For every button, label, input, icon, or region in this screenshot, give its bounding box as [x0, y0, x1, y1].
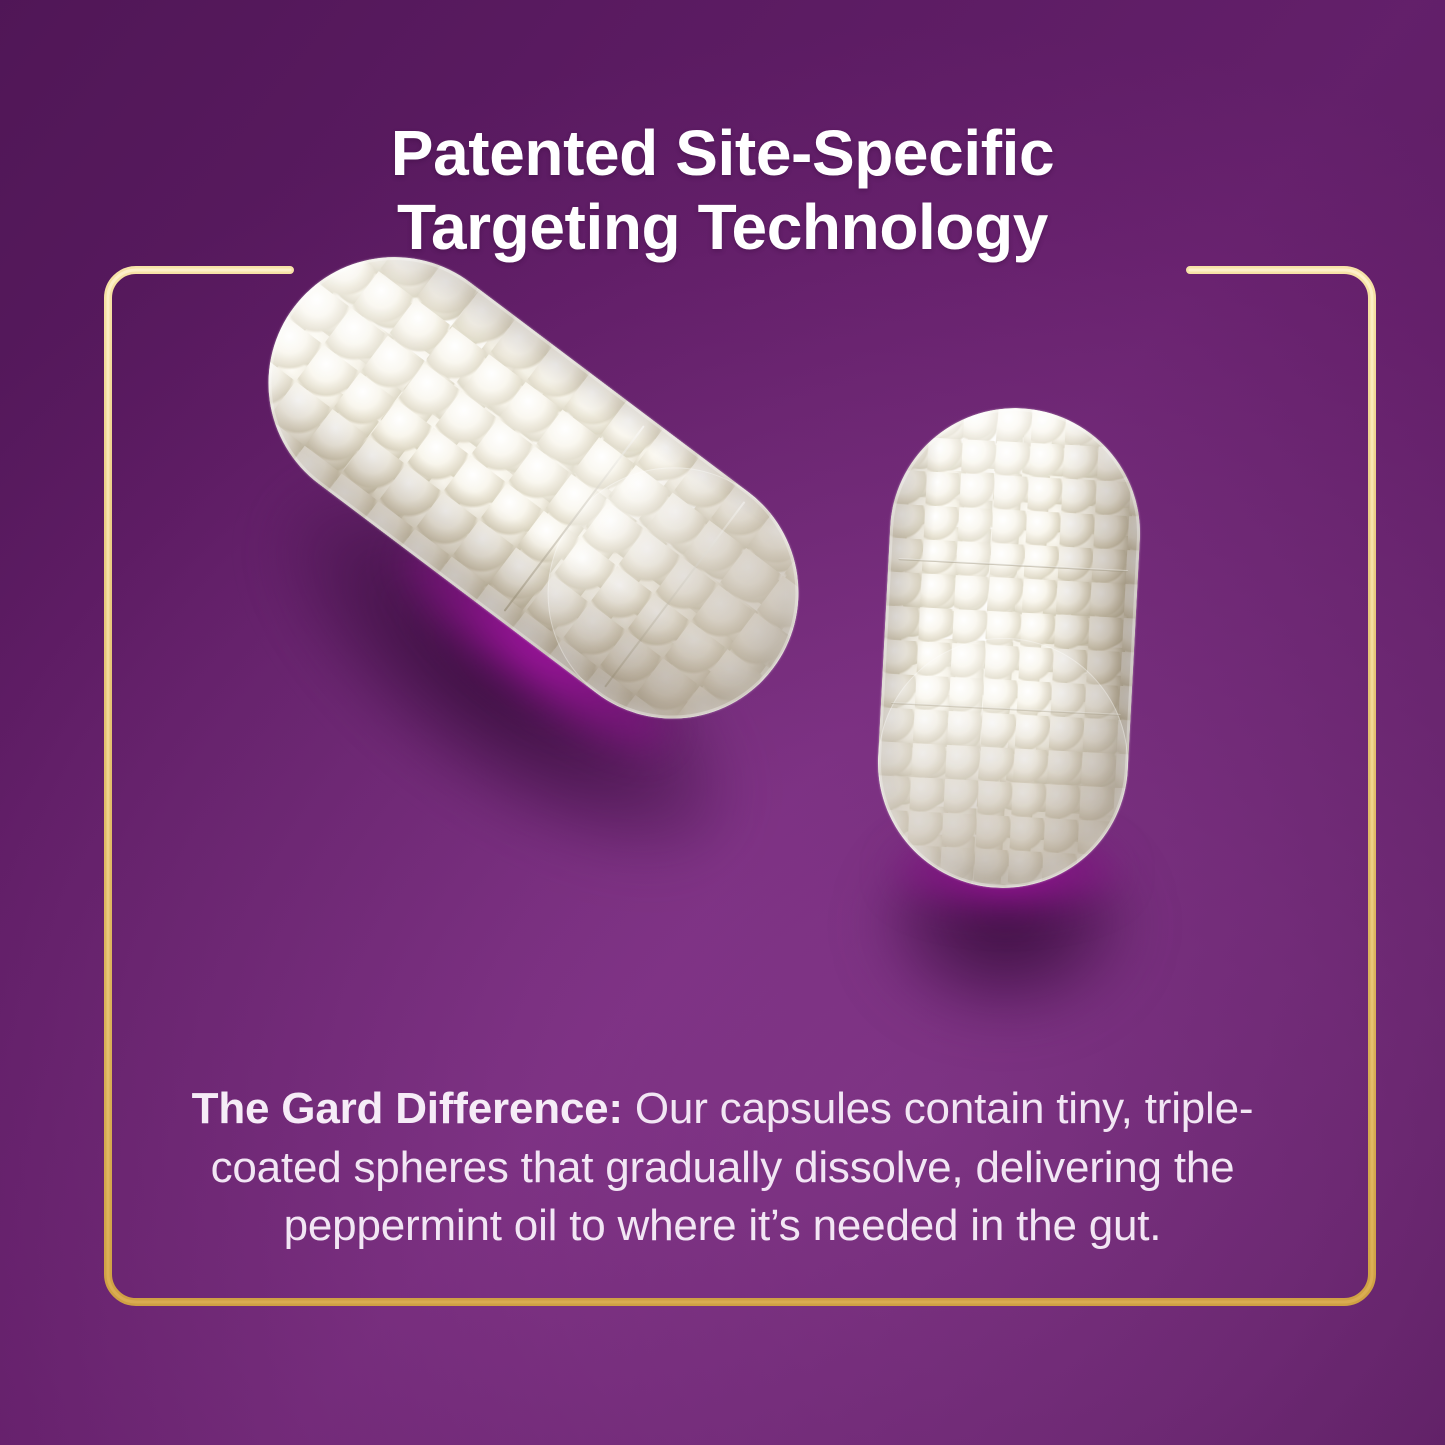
page-title: Patented Site-Specific Targeting Technol…	[0, 116, 1445, 264]
body-copy-lead: The Gard Difference:	[192, 1084, 623, 1133]
headline-line-2: Targeting Technology	[0, 190, 1445, 264]
body-copy: The Gard Difference: Our capsules contai…	[150, 1080, 1295, 1256]
product-feature-card: Patented Site-Specific Targeting Technol…	[0, 0, 1445, 1445]
headline-line-1: Patented Site-Specific	[0, 116, 1445, 190]
